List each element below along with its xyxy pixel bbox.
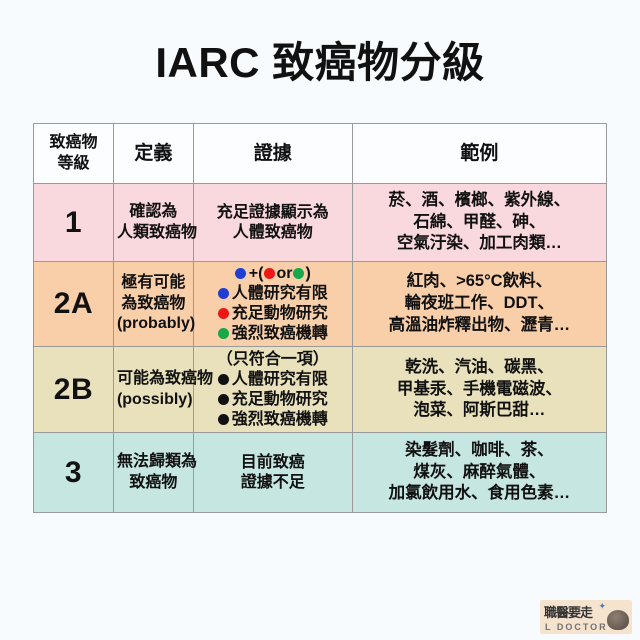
- evidence-bullet: 強烈致癌機轉: [197, 410, 349, 430]
- evidence-bullet: 充足動物研究: [197, 304, 349, 324]
- example-line: 煤灰、麻醉氣體、: [356, 462, 603, 484]
- column-header-grade-line2: 等級: [37, 154, 110, 175]
- grade-cell: 2B: [34, 347, 114, 433]
- definition-line: (probably): [117, 314, 190, 335]
- evidence-cell: 目前致癌 證據不足: [193, 433, 352, 513]
- column-header-grade: 致癌物 等級: [34, 124, 114, 184]
- definition-line: 致癌物: [117, 473, 190, 494]
- watermark-english: L DOCTOR: [545, 622, 608, 632]
- column-header-grade-line1: 致癌物: [37, 133, 110, 154]
- evidence-bullet-label: 人體研究有限: [232, 285, 328, 302]
- definition-line: 可能為致癌物: [117, 369, 190, 390]
- table-row: 2A 極有可能 為致癌物 (probably) +(or) 人體研究有限 充足動…: [34, 262, 607, 347]
- watermark-chinese: 職醫要走: [544, 602, 592, 621]
- example-line: 乾洗、汽油、碳黑、: [356, 357, 603, 379]
- mascot-icon: [607, 610, 629, 630]
- grade-cell: 3: [34, 433, 114, 513]
- evidence-bullet: 人體研究有限: [197, 370, 349, 390]
- iarc-classification-table: 致癌物 等級 定義 證據 範例 1 確認為 人類致癌物 充足證據顯示為 人體致癌…: [33, 123, 607, 513]
- definition-line: 為致癌物: [117, 294, 190, 315]
- examples-cell: 乾洗、汽油、碳黑、 甲基汞、手機電磁波、 泡菜、阿斯巴甜…: [352, 347, 606, 433]
- table-header-row: 致癌物 等級 定義 證據 範例: [34, 124, 607, 184]
- example-line: 泡菜、阿斯巴甜…: [356, 400, 603, 422]
- green-dot-icon: [218, 328, 229, 339]
- black-dot-icon: [218, 374, 229, 385]
- definition-line: (possibly): [117, 390, 190, 411]
- evidence-bullet: 人體研究有限: [197, 284, 349, 304]
- example-line: 加氯飲用水、食用色素…: [356, 483, 603, 505]
- example-line: 輪夜班工作、DDT、: [356, 293, 603, 315]
- or-label: or: [276, 265, 292, 282]
- column-header-evidence: 證據: [193, 124, 352, 184]
- evidence-line: 目前致癌: [197, 453, 349, 473]
- table-row: 1 確認為 人類致癌物 充足證據顯示為 人體致癌物 菸、酒、檳榔、紫外線、 石綿…: [34, 184, 607, 262]
- evidence-line: 人體致癌物: [197, 223, 349, 243]
- black-dot-icon: [218, 394, 229, 405]
- definition-cell: 無法歸類為 致癌物: [113, 433, 193, 513]
- evidence-bullet-label: 強烈致癌機轉: [232, 325, 328, 342]
- evidence-cell: 充足證據顯示為 人體致癌物: [193, 184, 352, 262]
- column-header-definition: 定義: [113, 124, 193, 184]
- definition-line: 無法歸類為: [117, 452, 190, 473]
- column-header-examples: 範例: [352, 124, 606, 184]
- example-line: 菸、酒、檳榔、紫外線、: [356, 190, 603, 212]
- example-line: 高溫油炸釋出物、瀝青…: [356, 315, 603, 337]
- definition-cell: 可能為致癌物 (possibly): [113, 347, 193, 433]
- black-dot-icon: [218, 414, 229, 425]
- definition-cell: 極有可能 為致癌物 (probably): [113, 262, 193, 347]
- evidence-formula-line: +(or): [197, 264, 349, 284]
- definition-line: 確認為: [117, 202, 190, 223]
- paren-close: ): [305, 265, 310, 282]
- plus-sign: +: [249, 265, 258, 282]
- example-line: 空氣汙染、加工肉類…: [356, 233, 603, 255]
- example-line: 紅肉、>65°C飲料、: [356, 271, 603, 293]
- examples-cell: 菸、酒、檳榔、紫外線、 石綿、甲醛、砷、 空氣汙染、加工肉類…: [352, 184, 606, 262]
- green-dot-icon: [293, 268, 304, 279]
- evidence-bullet: 強烈致癌機轉: [197, 324, 349, 344]
- definition-line: 人類致癌物: [117, 223, 190, 244]
- definition-line: 極有可能: [117, 273, 190, 294]
- example-line: 石綿、甲醛、砷、: [356, 212, 603, 234]
- evidence-note: （只符合一項）: [197, 350, 349, 370]
- paren-open: (: [258, 265, 263, 282]
- example-line: 甲基汞、手機電磁波、: [356, 379, 603, 401]
- evidence-bullet-label: 充足動物研究: [232, 305, 328, 322]
- red-dot-icon: [218, 308, 229, 319]
- evidence-bullet-label: 充足動物研究: [232, 391, 328, 408]
- evidence-bullet-label: 人體研究有限: [232, 371, 328, 388]
- evidence-bullet: 充足動物研究: [197, 390, 349, 410]
- blue-dot-icon: [235, 268, 246, 279]
- evidence-line: 證據不足: [197, 473, 349, 493]
- evidence-cell: +(or) 人體研究有限 充足動物研究 強烈致癌機轉: [193, 262, 352, 347]
- red-dot-icon: [264, 268, 275, 279]
- sparkle-icon: ✦: [598, 601, 606, 612]
- examples-cell: 染髮劑、咖啡、茶、 煤灰、麻醉氣體、 加氯飲用水、食用色素…: [352, 433, 606, 513]
- evidence-line: 充足證據顯示為: [197, 203, 349, 223]
- page-title: IARC 致癌物分級: [0, 40, 640, 86]
- evidence-cell: （只符合一項） 人體研究有限 充足動物研究 強烈致癌機轉: [193, 347, 352, 433]
- examples-cell: 紅肉、>65°C飲料、 輪夜班工作、DDT、 高溫油炸釋出物、瀝青…: [352, 262, 606, 347]
- definition-cell: 確認為 人類致癌物: [113, 184, 193, 262]
- evidence-bullet-label: 強烈致癌機轉: [232, 411, 328, 428]
- grade-cell: 2A: [34, 262, 114, 347]
- blue-dot-icon: [218, 288, 229, 299]
- grade-cell: 1: [34, 184, 114, 262]
- watermark-logo: ✦ 職醫要走 L DOCTOR: [540, 600, 632, 634]
- table-row: 3 無法歸類為 致癌物 目前致癌 證據不足 染髮劑、咖啡、茶、 煤灰、麻醉氣體、…: [34, 433, 607, 513]
- table-row: 2B 可能為致癌物 (possibly) （只符合一項） 人體研究有限 充足動物…: [34, 347, 607, 433]
- example-line: 染髮劑、咖啡、茶、: [356, 440, 603, 462]
